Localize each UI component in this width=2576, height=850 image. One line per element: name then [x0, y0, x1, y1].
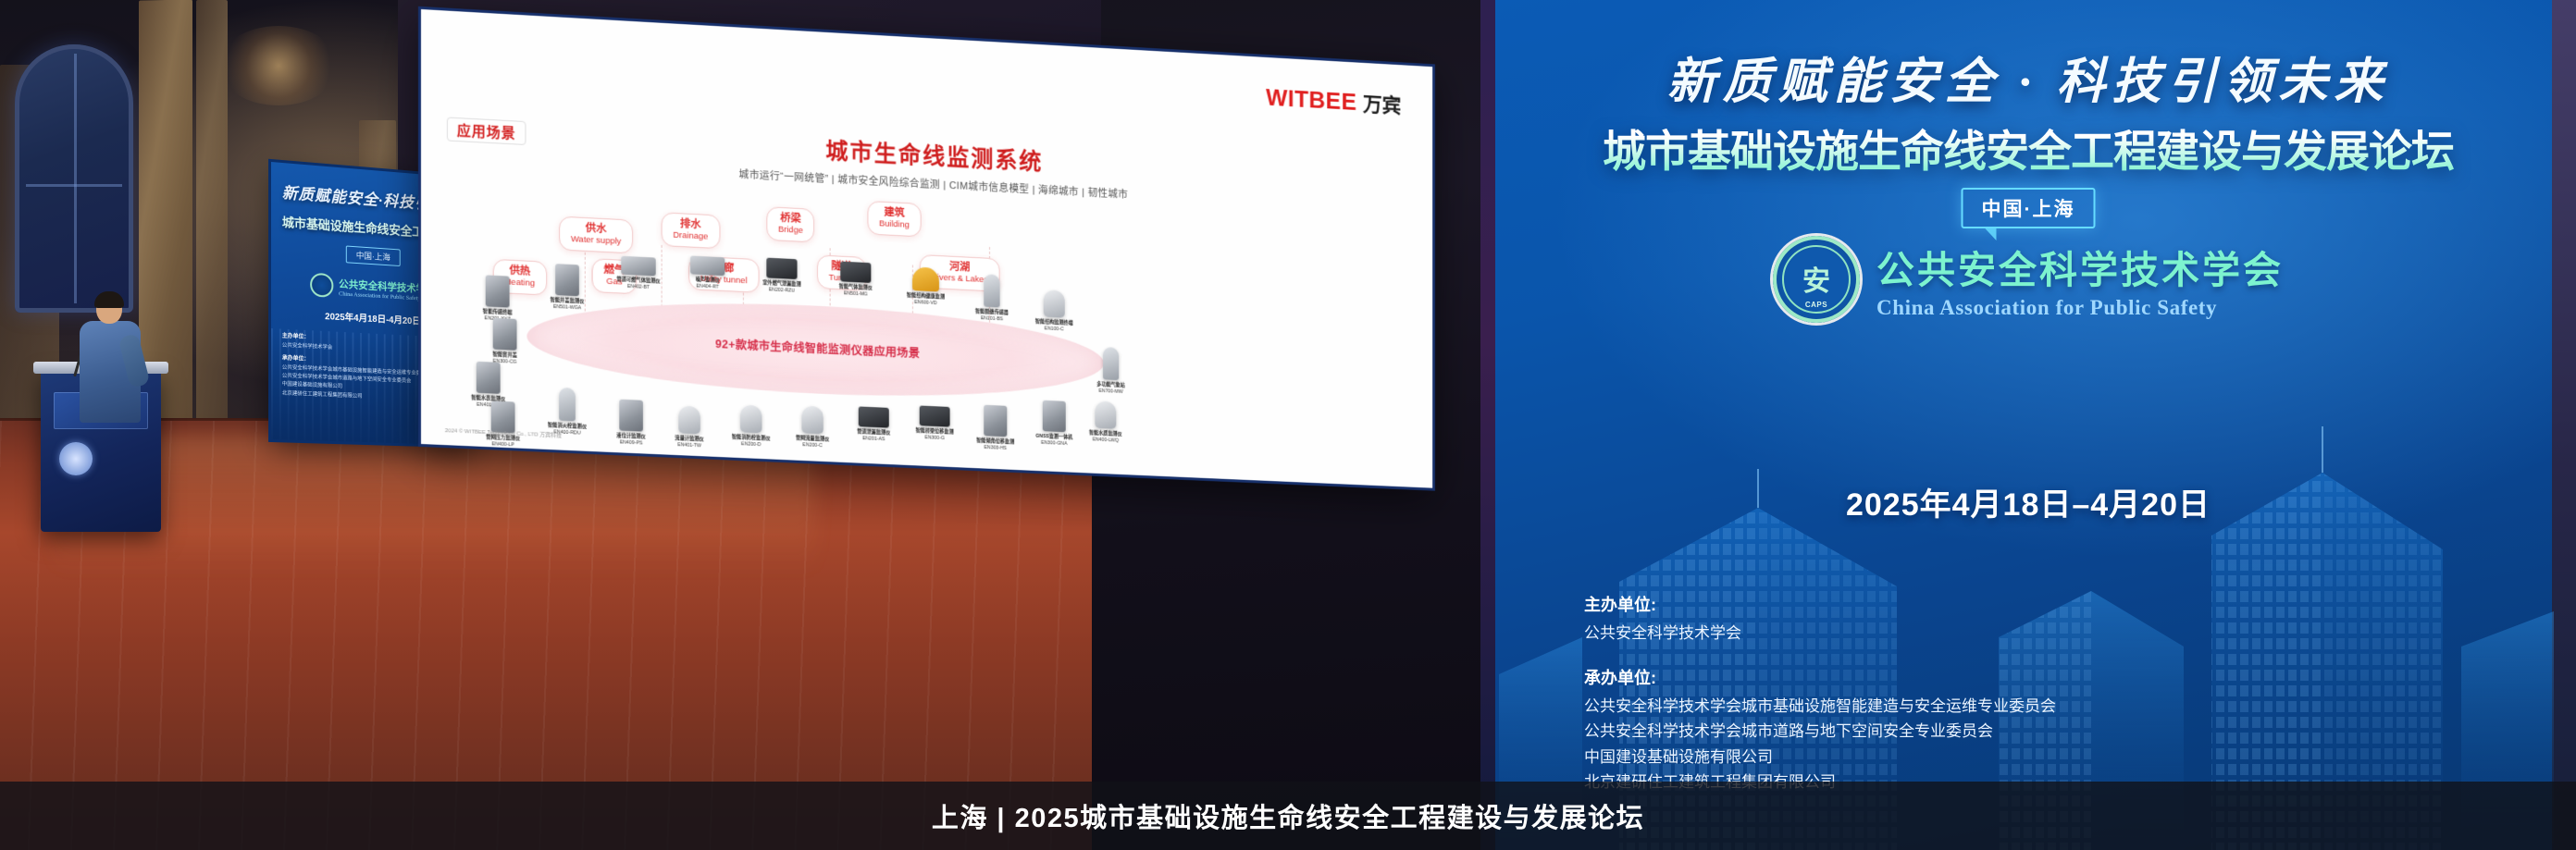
caps-seal-icon	[310, 273, 333, 298]
device-item[interactable]: 智能井盖监测仪EN501-WGA	[539, 263, 595, 312]
kv-calligraphy-headline: 新质赋能安全 · 科技引领未来	[1480, 43, 2576, 113]
device-item[interactable]: 智能气体监测仪EN501-MG	[828, 261, 884, 299]
device-model: EN404-RT	[696, 283, 718, 289]
device-model: EN202-RZU	[769, 287, 795, 293]
witbee-logo-cn: 万宾	[1363, 88, 1401, 118]
device-model: EN300-GNA	[1041, 439, 1067, 446]
device-model: EN101-BS	[981, 315, 1003, 322]
device-model: EN303-HS	[985, 445, 1007, 451]
device-model: EN600-VD	[914, 300, 937, 306]
device-model: EN400-LP	[491, 441, 514, 448]
device-item[interactable]: 智能传感终端EN201-XYZ	[469, 275, 526, 324]
bottom-caption-bar: 上海 | 2025城市基础设施生命线安全工程建设与发展论坛	[0, 782, 2576, 850]
device-icon	[493, 318, 517, 351]
device-model: EN700-MW	[1098, 388, 1122, 394]
device-icon	[690, 255, 724, 276]
device-model: EN501-MG	[844, 290, 868, 297]
caps-seal-icon: 安 CAPS	[1773, 236, 1860, 323]
device-icon	[486, 275, 510, 307]
speaker-person	[78, 294, 146, 433]
device-icon	[1103, 347, 1119, 380]
kv-main-title: 城市基础设施生命线安全工程建设与发展论坛	[1480, 116, 2576, 179]
witbee-logo: WITBEE 万宾	[1266, 82, 1401, 118]
device-icon	[859, 406, 889, 427]
device-item[interactable]: 管网压力监测仪EN400-LP	[475, 400, 532, 450]
kv-organizer-label: 承办单位:	[1584, 665, 2056, 689]
device-icon	[1044, 289, 1065, 318]
kv-association-en: China Association for Public Safety	[1876, 296, 2284, 320]
device-icon	[984, 405, 1007, 437]
device-item[interactable]: GNSS监测一体机EN300-GNA	[1026, 400, 1082, 448]
device-model: EN400-LWQ	[1093, 437, 1119, 443]
device-icon	[766, 258, 797, 279]
kv-host-label: 主办单位:	[1584, 592, 2056, 616]
arched-window	[15, 44, 133, 313]
speaker-hair	[94, 291, 124, 308]
device-icon	[740, 405, 762, 434]
kv-organizer-item: 公共安全科学技术学会城市道路与地下空间安全专业委员会	[1584, 719, 2056, 745]
pill-label-cn: 桥梁	[778, 213, 803, 226]
device-item[interactable]: 智能水质监测仪EN400-LWQ	[1078, 400, 1133, 445]
device-item[interactable]: 噪声监测仪EN404-RT	[679, 255, 736, 291]
device-icon	[559, 388, 576, 422]
device-icon	[555, 264, 579, 296]
pill-label-en: Water supply	[571, 234, 621, 248]
device-icon	[1095, 400, 1116, 428]
kv-organizer-item: 中国建设基础设施有限公司	[1584, 745, 2056, 770]
device-item[interactable]: 智能倾角位移监测EN303-HS	[968, 404, 1023, 452]
presentation-screen: WITBEE 万宾 应用场景 城市生命线监测系统 城市运行“一网统管” | 城市…	[421, 9, 1432, 488]
device-item[interactable]: 智能结构监测终端EN100-C	[1026, 289, 1082, 333]
conference-stage-photo: 新质赋能安全·科技引领未来 城市基础设施生命线安全工程建设与发展论坛 中国·上海…	[0, 0, 2576, 850]
kv-event-date: 2025年4月18日–4月20日	[1480, 479, 2576, 524]
slide-surface: WITBEE 万宾 应用场景 城市生命线监测系统 城市运行“一网统管” | 城市…	[421, 9, 1432, 488]
device-model: EN201-AS	[862, 436, 885, 442]
pill-label-en: Drainage	[673, 230, 708, 243]
device-item[interactable]: 室外燃气泄漏监测EN202-RZU	[754, 257, 811, 295]
device-model: EN300-G	[924, 435, 944, 441]
device-model: EN200-C	[802, 442, 822, 449]
device-item[interactable]: 流量计监测仪EN401-TW	[662, 405, 718, 450]
main-kv-banner: 新质赋能安全 · 科技引领未来 城市基础设施生命线安全工程建设与发展论坛 中国·…	[1480, 0, 2576, 850]
podium-emblem-icon	[59, 442, 93, 475]
seal-abbreviation: CAPS	[1773, 301, 1860, 309]
device-item[interactable]: 管道泄漏监测仪EN201-AS	[846, 406, 901, 443]
device-icon	[678, 406, 700, 435]
device-model: EN200-D	[741, 441, 761, 448]
device-item[interactable]: 智能结构健康监测EN600-VD	[898, 266, 953, 308]
scenario-pill-bridge[interactable]: 桥梁 Bridge	[766, 206, 814, 242]
device-model: EN409-PS	[620, 439, 643, 446]
device-icon	[1043, 400, 1066, 432]
caption-text: 上海 | 2025城市基础设施生命线安全工程建设与发展论坛	[932, 796, 1644, 835]
device-icon	[920, 405, 950, 426]
kv-organizer-item: 公共安全科学技术学会城市基础设施智能建造与安全运维专业委员会	[1584, 694, 2056, 720]
kv-association-block: 安 CAPS 公共安全科学技术学会 China Association for …	[1773, 236, 2284, 323]
kv-association-cn: 公共安全科学技术学会	[1876, 239, 2284, 294]
pill-label-en: Bridge	[778, 225, 803, 237]
device-icon	[477, 362, 501, 394]
device-item[interactable]: 智能窨井盖EN300-CG	[477, 317, 534, 366]
device-model: EN401-TW	[677, 442, 701, 449]
kv-host-value: 公共安全科学技术学会	[1584, 621, 2056, 647]
device-item[interactable]: 管道可燃气体监测仪EN402-BT	[610, 255, 666, 291]
device-icon	[621, 256, 655, 277]
device-icon	[840, 262, 871, 283]
device-icon	[801, 406, 823, 435]
device-model: EN402-BT	[627, 283, 650, 289]
scenario-pill-water-supply[interactable]: 供水 Water supply	[559, 216, 633, 254]
device-item[interactable]: 智能裂缝传感器EN101-BS	[964, 273, 1020, 323]
witbee-logo-en: WITBEE	[1266, 83, 1356, 117]
scenario-pill-drainage[interactable]: 排水 Drainage	[662, 212, 720, 249]
kv-location-badge: 中国·上海	[1962, 188, 2096, 228]
scenario-pill-building[interactable]: 建筑 Building	[867, 201, 921, 238]
device-item[interactable]: 智能消防栓监测仪EN200-D	[723, 404, 779, 449]
device-icon	[984, 274, 999, 307]
device-model: EN100-C	[1045, 326, 1064, 332]
device-item[interactable]: 智能桥梁位移监测EN300-G	[907, 405, 962, 442]
device-model: EN501-WGA	[553, 303, 581, 310]
device-item[interactable]: 多功能气象站EN700-MW	[1084, 346, 1138, 396]
device-icon	[619, 400, 643, 432]
device-icon	[912, 266, 939, 291]
seal-glyph: 安	[1802, 258, 1830, 299]
device-item[interactable]: 液位计监测仪EN409-PS	[603, 399, 660, 448]
device-item[interactable]: 管网流量监测仪EN200-C	[785, 405, 840, 450]
kv-organizer-block: 主办单位: 公共安全科学技术学会 承办单位: 公共安全科学技术学会城市基础设施智…	[1584, 592, 2056, 795]
pill-label-en: Building	[879, 219, 910, 231]
kv-small-location-badge: 中国·上海	[346, 245, 401, 266]
